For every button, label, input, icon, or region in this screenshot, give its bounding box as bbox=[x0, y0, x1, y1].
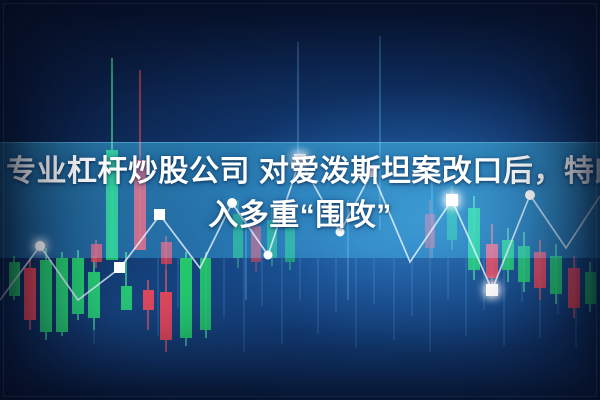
band-top-edge bbox=[0, 142, 600, 143]
headline-line-2: 入多重“围攻” bbox=[0, 194, 600, 238]
banner-image: 专业杠杆炒股公司 对爱泼斯坦案改口后，特朗普陷 入多重“围攻” bbox=[0, 0, 600, 400]
headline-line-1: 专业杠杆炒股公司 对爱泼斯坦案改口后，特朗普陷 bbox=[0, 150, 600, 194]
headline: 专业杠杆炒股公司 对爱泼斯坦案改口后，特朗普陷 入多重“围攻” bbox=[0, 150, 600, 238]
